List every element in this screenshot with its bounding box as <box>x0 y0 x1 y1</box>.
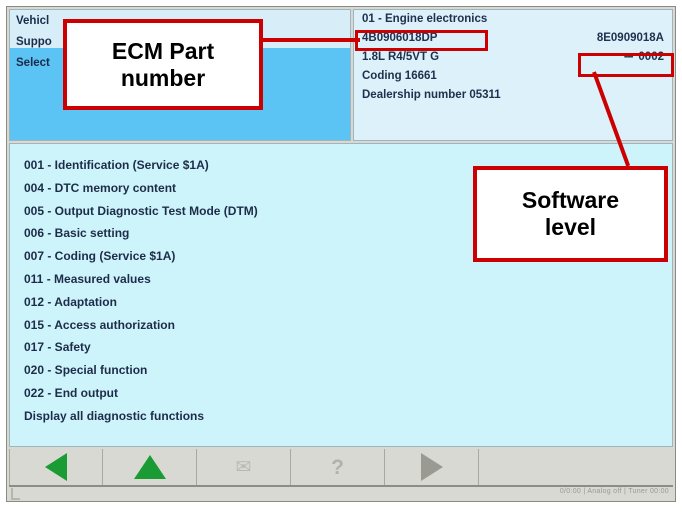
back-arrow-icon <box>45 453 67 481</box>
module-address-name: 01 - Engine electronics <box>354 10 672 29</box>
bottom-toolbar: ✉ ? <box>9 449 673 487</box>
sw-callout-text: Software level <box>522 187 619 241</box>
list-item[interactable]: 017 - Safety <box>24 336 672 359</box>
status-corner-icon <box>11 488 20 500</box>
list-item[interactable]: 012 - Adaptation <box>24 291 672 314</box>
software-level-callout: Software level <box>473 166 668 262</box>
list-item[interactable]: Display all diagnostic functions <box>24 405 672 428</box>
dealership-number-row: Dealership number 05311 <box>354 86 672 105</box>
ecm-callout-line-2: number <box>112 65 214 92</box>
ecm-hardware-number: 8E0909018A <box>597 29 664 48</box>
list-item[interactable]: 022 - End output <box>24 382 672 405</box>
ecm-part-number-highlight <box>355 30 488 51</box>
toolbar-spacer <box>479 449 673 485</box>
print-button[interactable]: ✉ <box>197 449 291 485</box>
forward-arrow-icon <box>421 453 443 481</box>
printer-icon: ✉ <box>236 458 252 477</box>
back-button[interactable] <box>9 449 103 485</box>
up-button[interactable] <box>103 449 197 485</box>
sw-callout-line-2: level <box>522 214 619 241</box>
ecm-callout-line-1: ECM Part <box>112 38 214 65</box>
screenshot-root: Vehicl Suppo Select 01 - Engine electron… <box>0 0 682 521</box>
help-icon: ? <box>331 457 344 478</box>
list-item[interactable]: 015 - Access authorization <box>24 314 672 337</box>
engine-code-label: 1.8L R4/5VT G <box>362 51 439 63</box>
status-bar-text: 0/0:00 | Analog off | Tuner 00:00 <box>560 488 669 495</box>
up-arrow-icon <box>134 455 166 479</box>
software-level-highlight <box>578 53 674 77</box>
ecm-callout-text: ECM Part number <box>112 38 214 92</box>
status-bar: 0/0:00 | Analog off | Tuner 00:00 <box>9 487 673 501</box>
list-item[interactable]: 020 - Special function <box>24 359 672 382</box>
sw-callout-line-1: Software <box>522 187 619 214</box>
ecm-part-number-callout: ECM Part number <box>63 19 263 110</box>
list-item[interactable]: 011 - Measured values <box>24 268 672 291</box>
forward-button[interactable] <box>385 449 479 485</box>
ecm-leader-line <box>260 38 360 42</box>
help-button[interactable]: ? <box>291 449 385 485</box>
